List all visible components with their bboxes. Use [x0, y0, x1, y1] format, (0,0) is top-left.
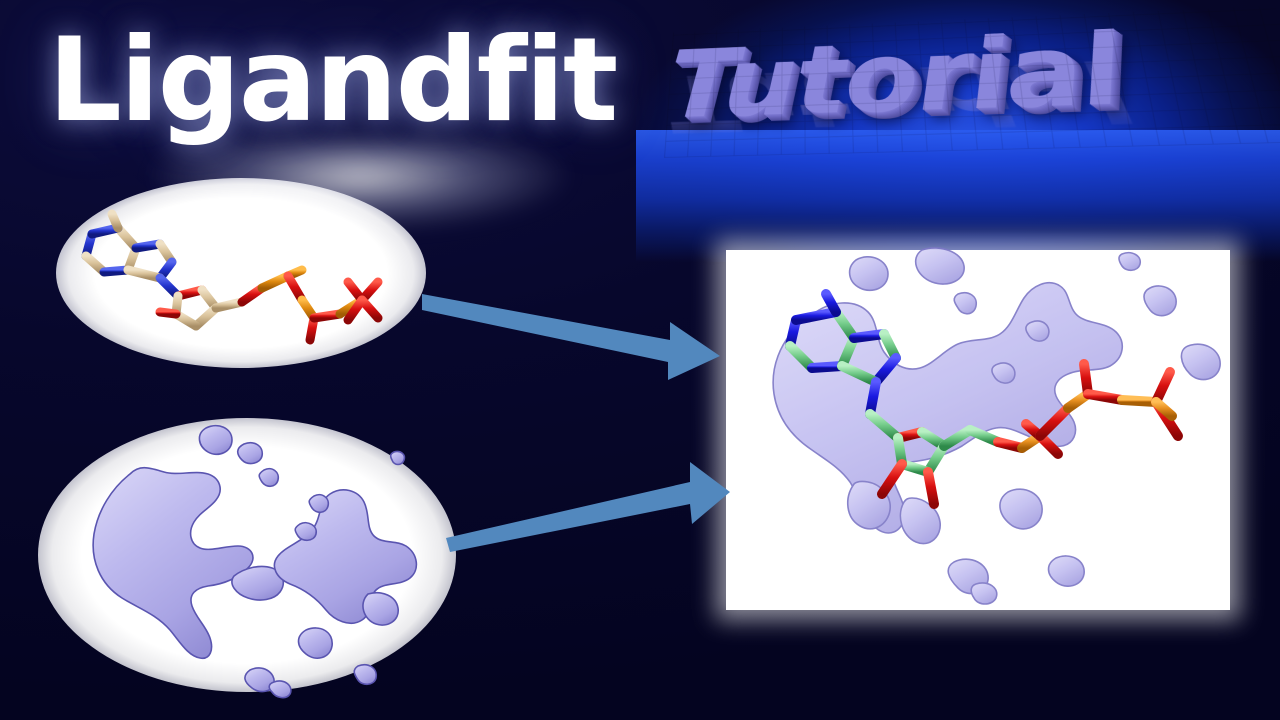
page-title: Ligandfit: [48, 20, 616, 142]
arrow-ligand-to-result: [420, 280, 730, 390]
ligand-stick-model: [56, 178, 426, 368]
density-envelope: [773, 248, 1220, 604]
electron-density-surface: [38, 418, 456, 692]
fitted-ligand-density-view: [726, 250, 1230, 610]
tutorial-banner: Tutorial Tutorial: [636, 0, 1280, 262]
tutorial-text: Tutorial: [664, 6, 1280, 158]
arrow-density-to-result: [444, 452, 734, 562]
slide-canvas: Tutorial Tutorial Ligandfit: [0, 0, 1280, 720]
